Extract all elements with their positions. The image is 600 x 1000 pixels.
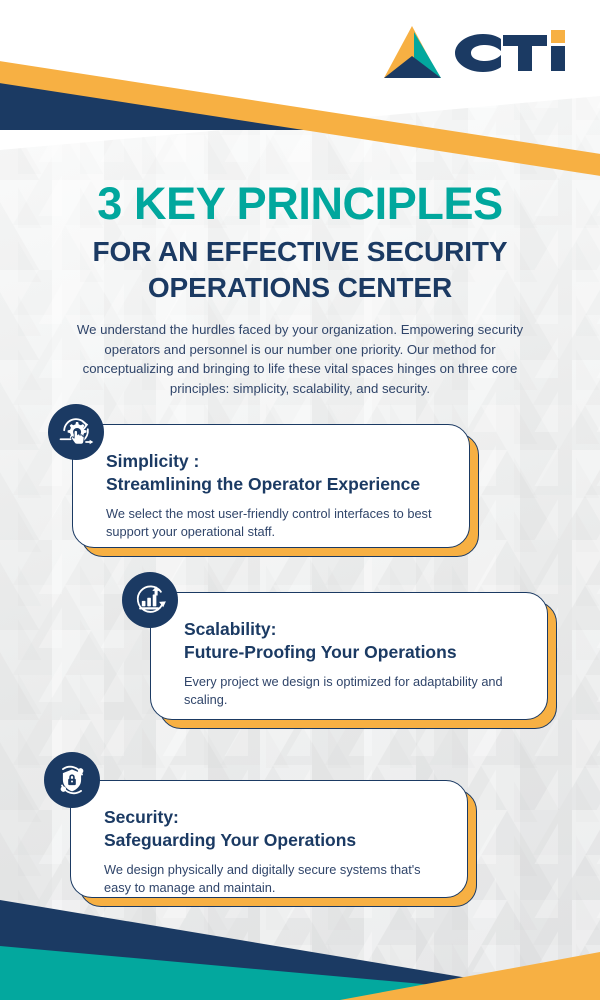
card-description: Every project we design is optimized for…	[184, 673, 522, 709]
gear-hand-pointer-icon	[48, 404, 104, 460]
logo-letter-c	[455, 34, 501, 72]
intro-paragraph: We understand the hurdles faced by your …	[58, 320, 542, 398]
card-title-line1: Scalability:	[184, 619, 276, 639]
bar-1	[142, 601, 146, 606]
page-title: 3 KEY PRINCIPLES	[0, 178, 600, 230]
chart-baseline	[139, 607, 159, 609]
page-subtitle-line2: OPERATIONS CENTER	[0, 270, 600, 306]
bar-chart-growth-icon	[122, 572, 178, 628]
card-title-line2: Safeguarding Your Operations	[104, 829, 442, 852]
card-title-line1: Simplicity :	[106, 451, 199, 471]
bar-chart-growth-icon-svg	[130, 580, 170, 620]
lock-keyhole	[71, 780, 73, 782]
card-title-line1: Security:	[104, 807, 179, 827]
card-simplicity[interactable]: Simplicity : Streamlining the Operator E…	[72, 424, 470, 548]
cti-logo-svg	[379, 22, 574, 84]
card-title-line2: Future-Proofing Your Operations	[184, 641, 522, 664]
card-title: Security: Safeguarding Your Operations	[104, 806, 442, 852]
card-description: We select the most user-friendly control…	[106, 505, 444, 541]
logo-letter-i-dot	[551, 30, 565, 43]
card-scalability[interactable]: Scalability: Future-Proofing Your Operat…	[150, 592, 548, 720]
shield-lock-icon-svg	[52, 760, 92, 800]
card-text-block: Simplicity : Streamlining the Operator E…	[106, 450, 444, 541]
logo-letter-i-stem	[551, 46, 565, 71]
card-title: Simplicity : Streamlining the Operator E…	[106, 450, 444, 496]
cti-logo[interactable]	[379, 22, 574, 84]
card-title-line2: Streamlining the Operator Experience	[106, 473, 444, 496]
card-title: Scalability: Future-Proofing Your Operat…	[184, 618, 522, 664]
bar-2	[147, 598, 151, 607]
card-text-block: Security: Safeguarding Your Operations W…	[104, 806, 442, 897]
infographic-poster: 3 KEY PRINCIPLES FOR AN EFFECTIVE SECURI…	[0, 0, 600, 1000]
gear-hand-pointer-icon-svg	[56, 412, 96, 452]
growth-arrow	[152, 586, 160, 595]
shield-lock-icon	[44, 752, 100, 808]
card-security[interactable]: Security: Safeguarding Your Operations W…	[70, 780, 468, 898]
page-subtitle-line1: FOR AN EFFECTIVE SECURITY	[0, 234, 600, 270]
logo-letter-t	[503, 35, 547, 71]
card-description: We design physically and digitally secur…	[104, 861, 442, 897]
bar-3	[153, 595, 157, 607]
orbit-node-bottom	[61, 786, 66, 791]
arrow-head	[90, 440, 94, 445]
card-text-block: Scalability: Future-Proofing Your Operat…	[184, 618, 522, 709]
headline-block: 3 KEY PRINCIPLES FOR AN EFFECTIVE SECURI…	[0, 178, 600, 306]
